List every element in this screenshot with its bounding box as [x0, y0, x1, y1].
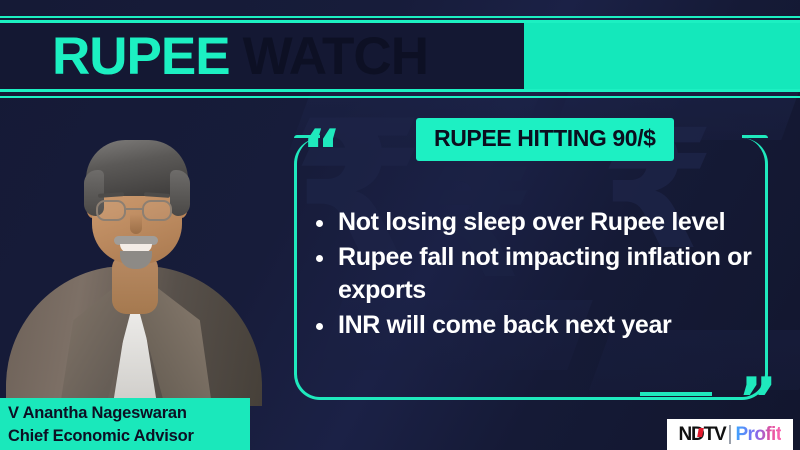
list-item: Not losing sleep over Rupee level [312, 206, 764, 239]
speaker-name: V Anantha Nageswaran [8, 402, 250, 425]
open-quote-icon: “ [302, 122, 341, 182]
header-top-rule [0, 16, 800, 18]
logo-accent-rule [640, 392, 712, 396]
header-title-rupee: RUPEE [52, 26, 230, 87]
list-item: Rupee fall not impacting inflation or ex… [312, 241, 764, 307]
headline-badge-label: RUPEE HITTING 90/$ [434, 125, 656, 151]
rupee-watch-graphic: ₹ ₹ ₹ RUPEE WATCH V Anant [0, 0, 800, 450]
logo-brand: NDTV [679, 424, 726, 446]
speaker-designation: Chief Economic Advisor [8, 425, 250, 448]
quote-bullet-list: Not losing sleep over Rupee level Rupee … [312, 206, 764, 344]
speaker-portrait [0, 96, 268, 406]
portrait-eyeglass-left [96, 200, 126, 221]
header-title: RUPEE WATCH [0, 23, 800, 89]
speaker-nameplate: V Anantha Nageswaran Chief Economic Advi… [0, 398, 250, 450]
list-item: INR will come back next year [312, 309, 764, 342]
headline-badge: RUPEE HITTING 90/$ [416, 118, 674, 161]
logo-divider [729, 425, 731, 444]
portrait-eyeglass-bridge [126, 208, 142, 210]
logo-red-accent-icon [697, 428, 704, 437]
portrait-nose [130, 214, 142, 234]
close-quote-icon: ” [738, 370, 777, 430]
header-band: RUPEE WATCH [0, 20, 800, 92]
portrait-hair-side-right [170, 170, 190, 216]
portrait-eyeglass-right [142, 200, 172, 221]
header-title-watch: WATCH [243, 26, 428, 87]
